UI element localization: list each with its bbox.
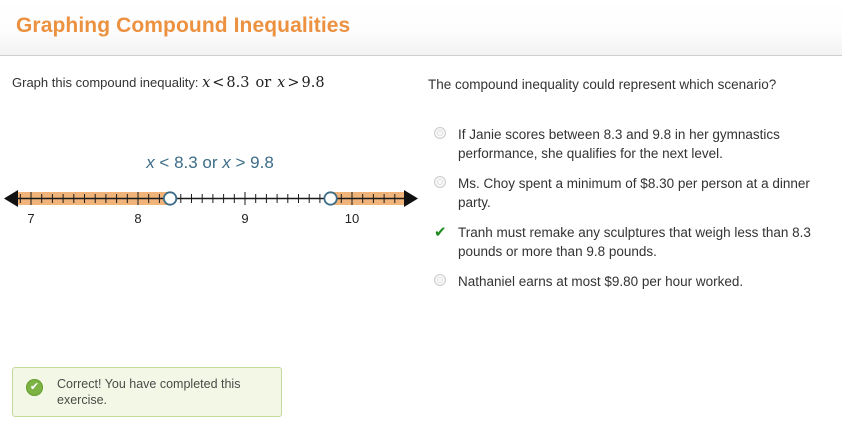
math-relation-2: >	[285, 75, 301, 91]
check-circle-icon: ✔	[26, 379, 43, 396]
radio-button-2[interactable]	[434, 176, 448, 190]
question-text: The compound inequality could represent …	[428, 75, 818, 94]
tick-label-8: 8	[134, 211, 141, 226]
check-glyph-option-3: ✔	[434, 225, 448, 239]
answer-options-list: If Janie scores between 8.3 and 9.8 in h…	[428, 125, 828, 303]
number-line-svg[interactable]: 7 8 9 10	[0, 187, 420, 247]
axis-arrow-right-icon	[404, 190, 418, 207]
prompt-math-expression: x<8.3orx>9.8	[202, 75, 324, 91]
endpoint-open-circle-8-3[interactable]	[164, 192, 176, 204]
tick-label-9: 9	[241, 211, 248, 226]
check-glyph: ✔	[26, 378, 43, 396]
option-row-2[interactable]: Ms. Choy spent a minimum of $8.30 per pe…	[428, 174, 828, 223]
option-label-4: Nathaniel earns at most $9.80 per hour w…	[458, 272, 826, 291]
content-area: Graph this compound inequality: x<8.3orx…	[0, 57, 842, 447]
math-conjunction: or	[249, 75, 277, 91]
graph-label-var-1: x	[146, 153, 155, 172]
prompt-line: Graph this compound inequality: x<8.3orx…	[12, 75, 325, 91]
endpoint-open-circle-9-8[interactable]	[324, 192, 336, 204]
math-value-1: 8.3	[226, 75, 249, 91]
feedback-banner: ✔ Correct! You have completed this exerc…	[12, 367, 282, 417]
radio-button-4[interactable]	[434, 274, 448, 288]
math-value-2: 9.8	[302, 75, 325, 91]
graph-label-rel-2: > 9.8	[236, 153, 274, 172]
number-line-graph: x < 8.3 or x > 9.8	[0, 153, 420, 263]
math-relation-1: <	[210, 75, 226, 91]
option-label-2: Ms. Choy spent a minimum of $8.30 per pe…	[458, 174, 826, 212]
graph-label-rel-1: < 8.3 or	[159, 153, 217, 172]
tick-label-7: 7	[27, 211, 34, 226]
feedback-text: Correct! You have completed this exercis…	[57, 376, 271, 408]
number-line[interactable]: 7 8 9 10	[0, 187, 420, 247]
option-row-3[interactable]: ✔ Tranh must remake any sculptures that …	[428, 223, 828, 272]
radio-button-1[interactable]	[434, 127, 448, 141]
axis-arrow-left-icon	[4, 190, 18, 207]
question-pane: The compound inequality could represent …	[428, 57, 828, 447]
graph-inequality-label: x < 8.3 or x > 9.8	[0, 153, 420, 173]
option-row-4[interactable]: Nathaniel earns at most $9.80 per hour w…	[428, 272, 828, 303]
prompt-lead-text: Graph this compound inequality:	[12, 75, 198, 90]
option-label-3: Tranh must remake any sculptures that we…	[458, 223, 826, 261]
correct-check-icon: ✔	[434, 225, 448, 239]
app-header: Graphing Compound Inequalities	[0, 0, 842, 56]
page-title: Graphing Compound Inequalities	[16, 14, 350, 38]
tick-label-10: 10	[345, 211, 359, 226]
option-label-1: If Janie scores between 8.3 and 9.8 in h…	[458, 125, 826, 163]
graph-pane: Graph this compound inequality: x<8.3orx…	[0, 57, 420, 447]
graph-label-var-2: x	[222, 153, 231, 172]
option-row-1[interactable]: If Janie scores between 8.3 and 9.8 in h…	[428, 125, 828, 174]
